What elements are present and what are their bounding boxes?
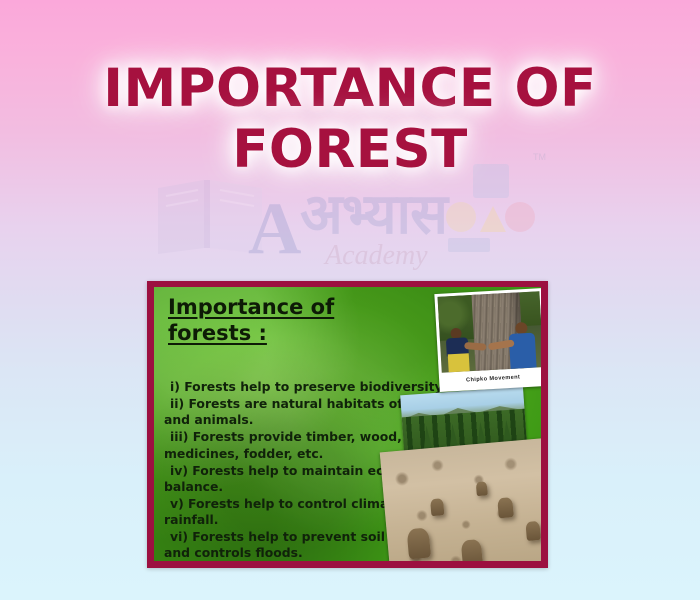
tree-stump xyxy=(406,528,431,560)
watermark-academy-text: Academy xyxy=(325,242,428,270)
tree-stump xyxy=(430,498,444,516)
ground-texture xyxy=(380,438,541,561)
watermark-hindi-text: अभ्यास xyxy=(300,186,447,242)
slide-heading: Importance of forests : xyxy=(168,295,398,346)
list-item: i) Forests help to preserve biodiversity… xyxy=(164,379,452,395)
page-title-line-1: IMPORTANCE OF xyxy=(0,58,700,119)
watermark-pink-dot xyxy=(505,202,535,232)
tree-stump xyxy=(476,482,488,497)
page-canvas: A अभ्यास Academy TM IMPORTANCE OF FOREST… xyxy=(0,0,700,600)
person-legs xyxy=(448,353,470,372)
page-title-line-2: FOREST xyxy=(0,119,700,180)
slide-image-frame: Importance of forests : i) Forests help … xyxy=(147,281,548,568)
tree-stump xyxy=(497,497,514,518)
deforestation-stumps-photo xyxy=(380,438,541,561)
person-body xyxy=(509,333,537,369)
watermark-triangle-shape xyxy=(480,206,506,232)
page-title: IMPORTANCE OF FOREST xyxy=(0,58,700,181)
person-figure xyxy=(507,322,538,369)
watermark-yellow-dot xyxy=(446,202,476,232)
watermark-letter-a: A xyxy=(248,192,301,266)
person-figure xyxy=(443,327,471,372)
chipko-movement-photo: Chipko Movement xyxy=(434,288,541,392)
chipko-photo-image xyxy=(438,291,541,373)
tree-stump xyxy=(526,521,541,541)
watermark-bar-shape xyxy=(448,238,490,252)
open-book-icon xyxy=(154,174,266,258)
slide-content: Importance of forests : i) Forests help … xyxy=(154,287,541,561)
